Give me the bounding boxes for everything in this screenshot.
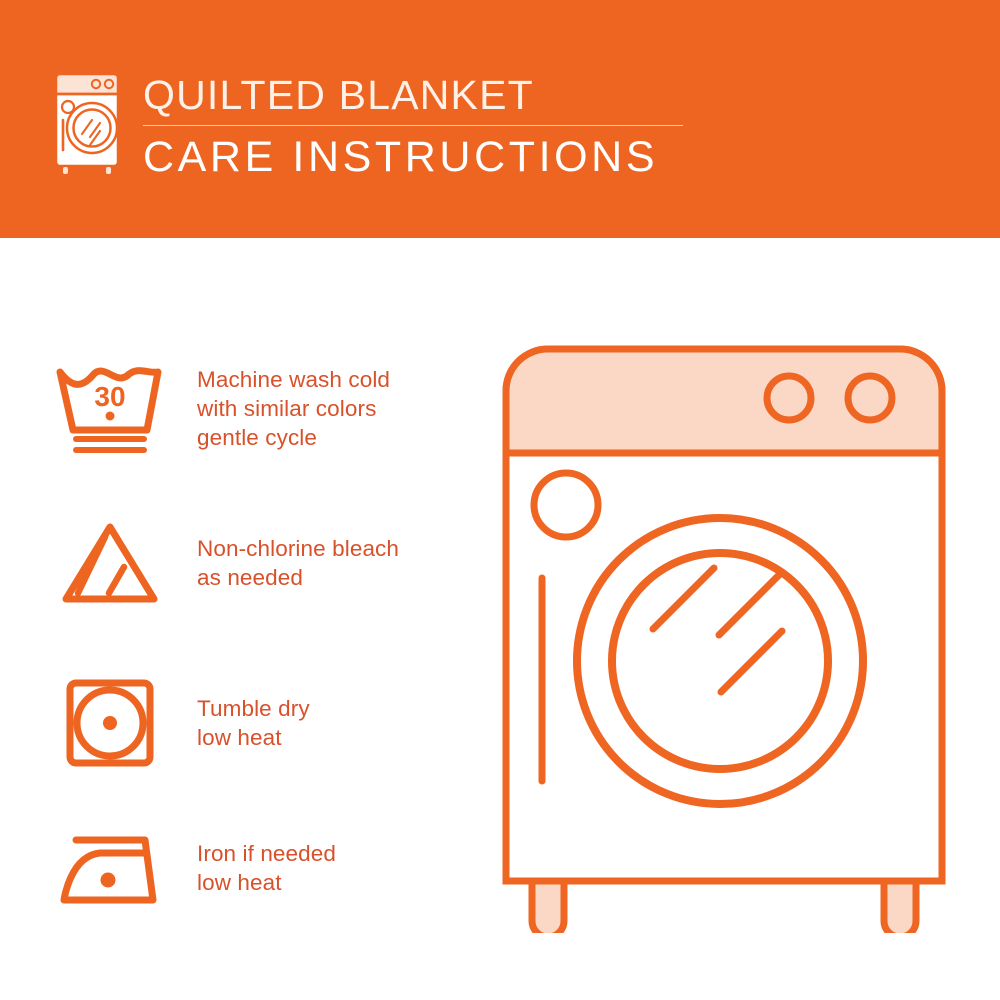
header-title-block: QUILTED BLANKET CARE INSTRUCTIONS [143,72,703,183]
foot-left [532,881,564,933]
tumble-dry-low-icon [40,653,180,793]
care-text-line: with similar colors [197,394,472,423]
care-instruction-item: Tumble dry low heat [0,653,470,793]
iron-low-heat-icon [40,798,180,938]
care-instruction-item: Non-chlorine bleach as needed [0,493,470,633]
care-instruction-item: Iron if needed low heat [0,798,470,938]
care-text-line: gentle cycle [197,423,472,452]
washing-machine-icon [48,68,126,180]
control-panel [506,349,942,453]
foot-right [884,881,916,933]
care-text-line: Non-chlorine bleach [197,534,472,563]
title-divider [143,125,683,126]
front-load-washing-machine-illustration [488,333,958,933]
care-instruction-text: Non-chlorine bleach as needed [197,493,472,633]
care-instruction-text: Iron if needed low heat [197,798,472,938]
care-text-line: low heat [197,723,472,752]
care-text-line: Machine wash cold [197,365,472,394]
page-title-primary: QUILTED BLANKET [143,72,703,119]
care-instructions-page: QUILTED BLANKET CARE INSTRUCTIONS 30 [0,0,1000,1000]
care-text-line: low heat [197,868,472,897]
non-chlorine-bleach-icon [40,493,180,633]
care-instruction-text: Tumble dry low heat [197,653,472,793]
page-title-secondary: CARE INSTRUCTIONS [143,131,703,183]
wash-temperature-label: 30 [94,381,125,412]
care-text-line: as needed [197,563,472,592]
care-instruction-text: Machine wash cold with similar colors ge… [197,338,472,478]
machine-wash-30-gentle-icon: 30 [40,338,180,478]
care-instruction-item: 30 Machine wash cold with similar colors… [0,338,470,478]
header-banner: QUILTED BLANKET CARE INSTRUCTIONS [0,0,1000,238]
care-text-line: Iron if needed [197,839,472,868]
care-text-line: Tumble dry [197,694,472,723]
care-instruction-list: 30 Machine wash cold with similar colors… [0,238,470,1000]
